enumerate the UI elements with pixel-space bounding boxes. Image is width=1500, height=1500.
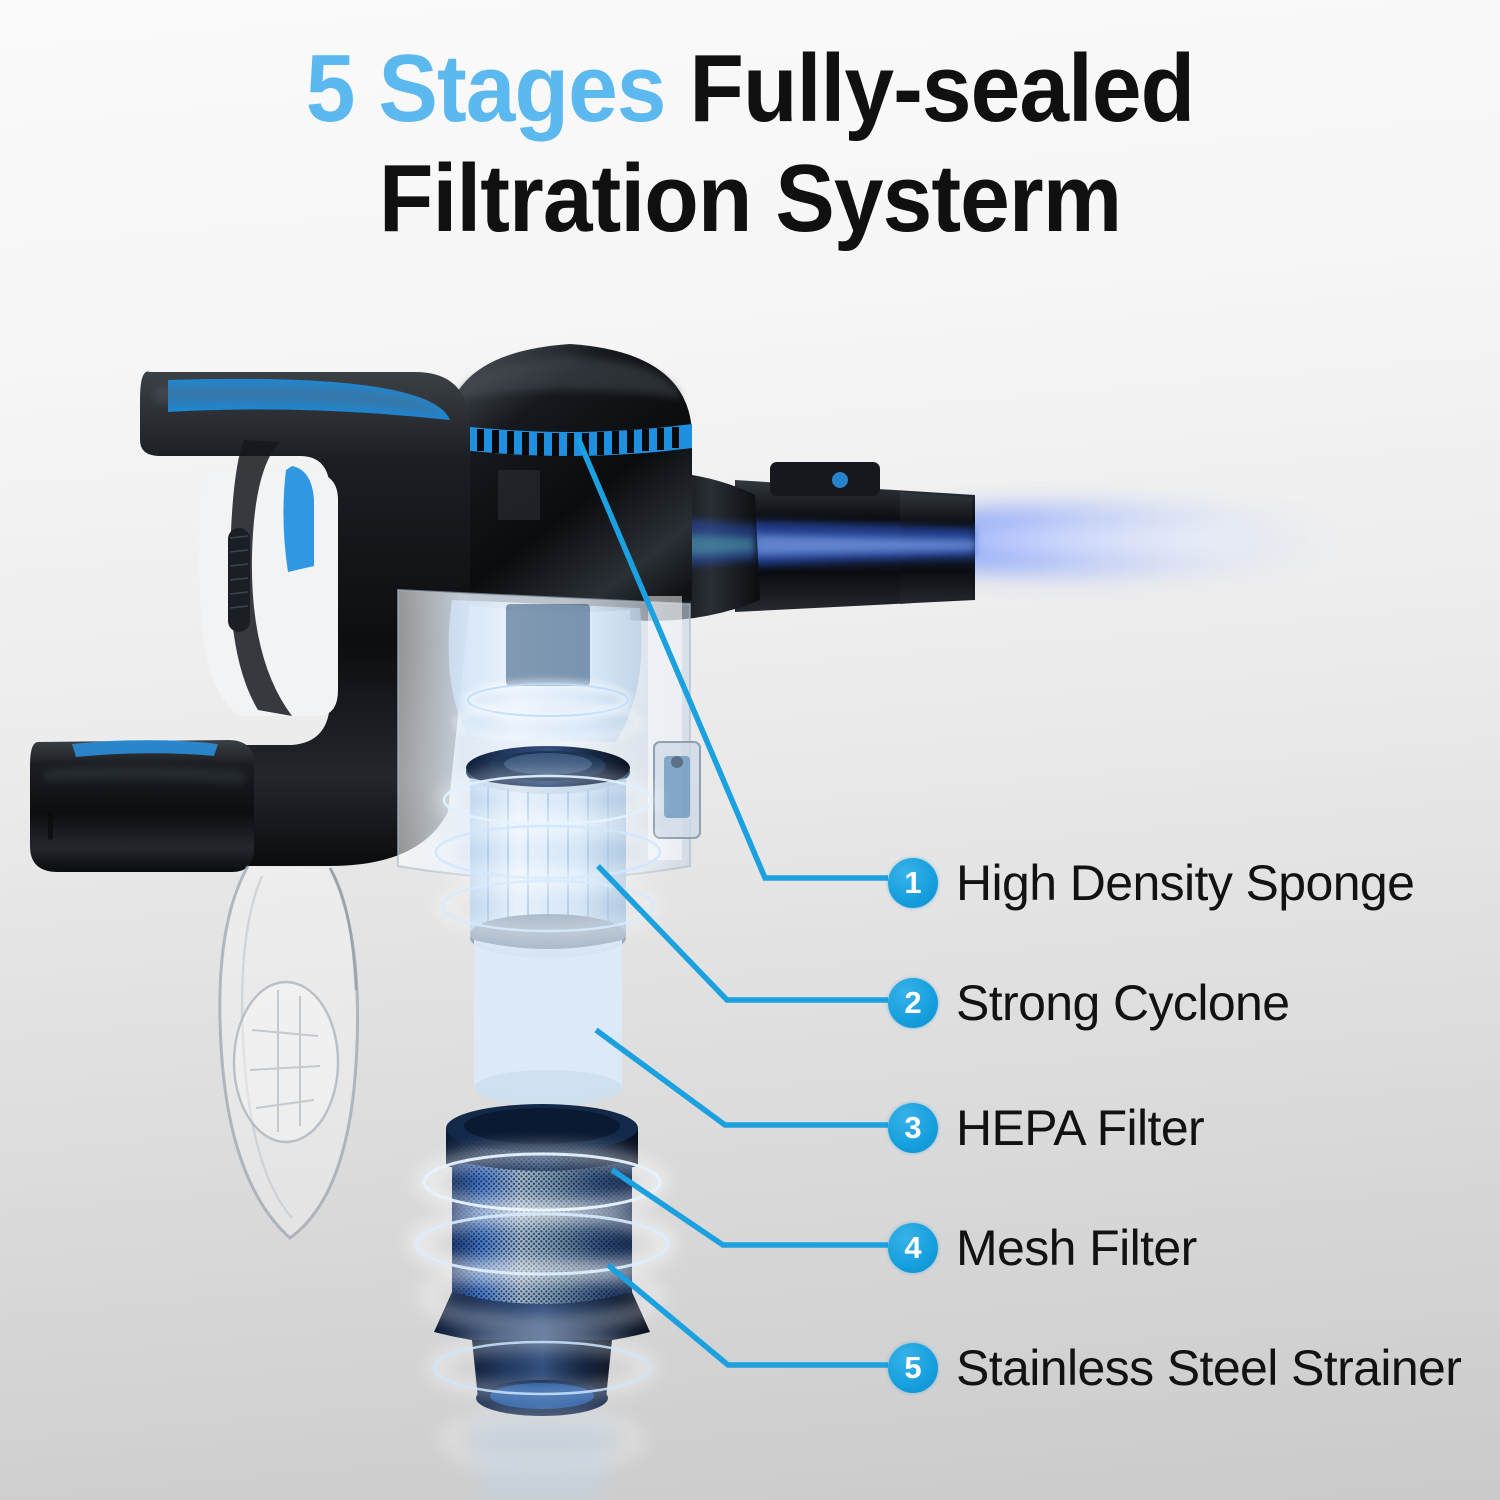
stage-label-1: High Density Sponge xyxy=(956,854,1414,912)
legend-item-4[interactable]: 4 Mesh Filter xyxy=(888,1220,1197,1276)
product-illustration xyxy=(0,0,1500,1500)
stage-badge-1: 1 xyxy=(888,858,938,908)
motor-housing xyxy=(445,344,692,613)
stage-label-3: HEPA Filter xyxy=(956,1099,1204,1157)
release-latch xyxy=(770,462,880,496)
cup-release-latch[interactable] xyxy=(654,742,700,838)
stage-label-4: Mesh Filter xyxy=(956,1219,1197,1277)
stainless-steel-strainer xyxy=(416,1104,668,1500)
cyclone-chamber xyxy=(449,600,642,742)
dust-cup-clear-hoop xyxy=(220,866,358,1238)
legend-item-1[interactable]: 1 High Density Sponge xyxy=(888,855,1414,911)
legend-item-5[interactable]: 5 Stainless Steel Strainer xyxy=(888,1340,1461,1396)
stage-label-5: Stainless Steel Strainer xyxy=(956,1339,1461,1397)
stage-badge-5: 5 xyxy=(888,1343,938,1393)
legend-item-3[interactable]: 3 HEPA Filter xyxy=(888,1100,1204,1156)
stage-label-2: Strong Cyclone xyxy=(956,974,1289,1032)
legend-item-2[interactable]: 2 Strong Cyclone xyxy=(888,975,1289,1031)
latch-indicator-icon xyxy=(832,472,848,488)
stage-badge-4: 4 xyxy=(888,1223,938,1273)
stage-badge-2: 2 xyxy=(888,978,938,1028)
battery-pack xyxy=(30,740,254,872)
stage-badge-3: 3 xyxy=(888,1103,938,1153)
extension-wand xyxy=(735,462,975,612)
